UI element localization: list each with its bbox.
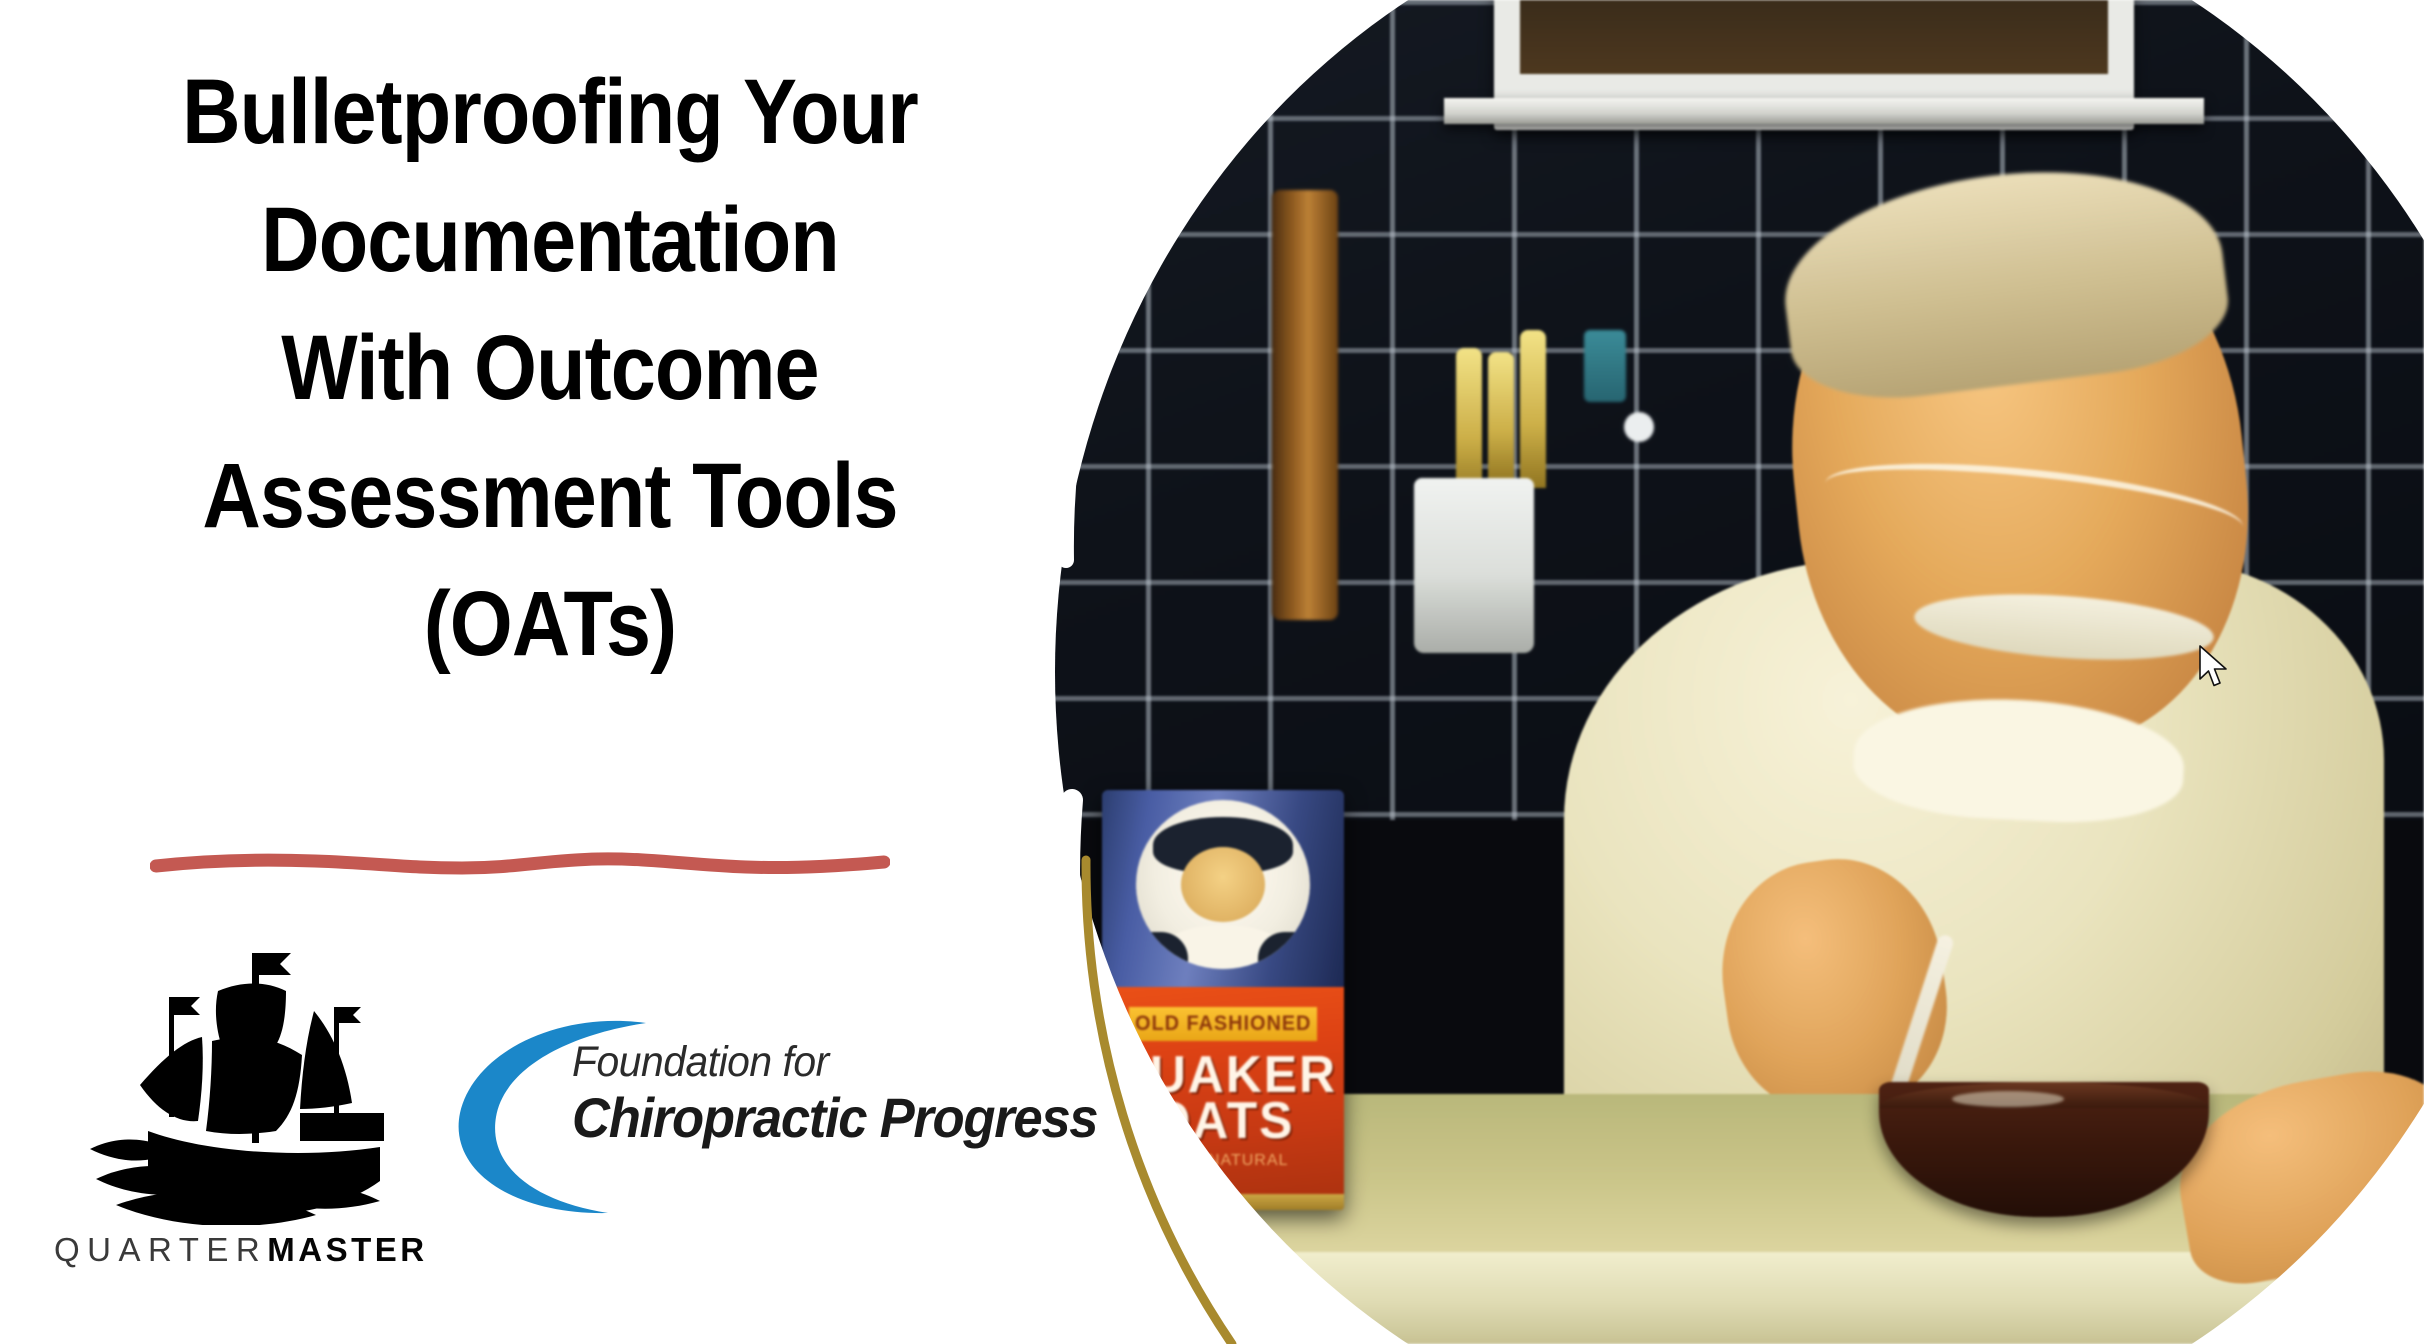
- page-title: Bulletproofing Your Documentation With O…: [10, 48, 1090, 688]
- framed-picture-art: [1520, 0, 2108, 74]
- quartermaster-word-light: QUARTER: [54, 1231, 267, 1268]
- mouse-pointer: [2198, 645, 2232, 691]
- quaker-man-portrait: [1136, 800, 1310, 969]
- foundation-line-1: Foundation for: [572, 1037, 1066, 1087]
- canister-old-fashioned-text: OLD FASHIONED: [1129, 1007, 1318, 1040]
- title-line-5: (OATs): [75, 560, 1025, 688]
- bowl-contents: [1952, 1091, 2064, 1107]
- oats-canister: OLD FASHIONED QUAKER OATS 100% NATURAL: [1102, 790, 1344, 1210]
- red-wavy-rule: [150, 840, 890, 884]
- canister-top-band: [1102, 790, 1344, 992]
- teal-container: [1584, 330, 1626, 402]
- presentation-slide: OLD FASHIONED QUAKER OATS 100% NATURAL: [0, 0, 2424, 1344]
- utensil: [1488, 352, 1514, 484]
- foundation-line-2: Chiropractic Progress: [572, 1087, 1061, 1149]
- canister-label: OLD FASHIONED QUAKER OATS 100% NATURAL: [1102, 987, 1344, 1210]
- divider: [150, 840, 890, 884]
- quartermaster-logo: QUARTERMASTER: [62, 935, 402, 1295]
- canister-footer-band: [1102, 1194, 1344, 1210]
- title-line-3: With Outcome: [75, 304, 1025, 432]
- sailing-ship-icon: [62, 935, 392, 1225]
- foundation-chiropractic-progress-logo: Foundation for Chiropractic Progress: [440, 1025, 1080, 1215]
- title-line-1: Bulletproofing Your: [75, 48, 1025, 176]
- utensil: [1520, 330, 1546, 488]
- left-text-panel: Bulletproofing Your Documentation With O…: [0, 0, 1120, 1344]
- title-line-4: Assessment Tools: [75, 432, 1025, 560]
- quartermaster-wordmark: QUARTERMASTER: [54, 1231, 404, 1269]
- foundation-text-block: Foundation for Chiropractic Progress: [572, 1037, 1092, 1149]
- canister-subtext: 100% NATURAL: [1102, 1152, 1344, 1170]
- utensil: [1456, 348, 1482, 498]
- canister-brand-oats: OATS: [1107, 1094, 1339, 1148]
- logo-row: QUARTERMASTER Foundation for Chiropracti…: [0, 935, 1090, 1315]
- shelf: [1444, 98, 2204, 124]
- quartermaster-word-bold: MASTER: [267, 1231, 427, 1268]
- title-line-2: Documentation: [75, 176, 1025, 304]
- utensil-crock: [1414, 478, 1534, 653]
- quaker-face: [1181, 847, 1265, 922]
- white-knob: [1624, 412, 1654, 442]
- rolling-pin: [1272, 190, 1338, 620]
